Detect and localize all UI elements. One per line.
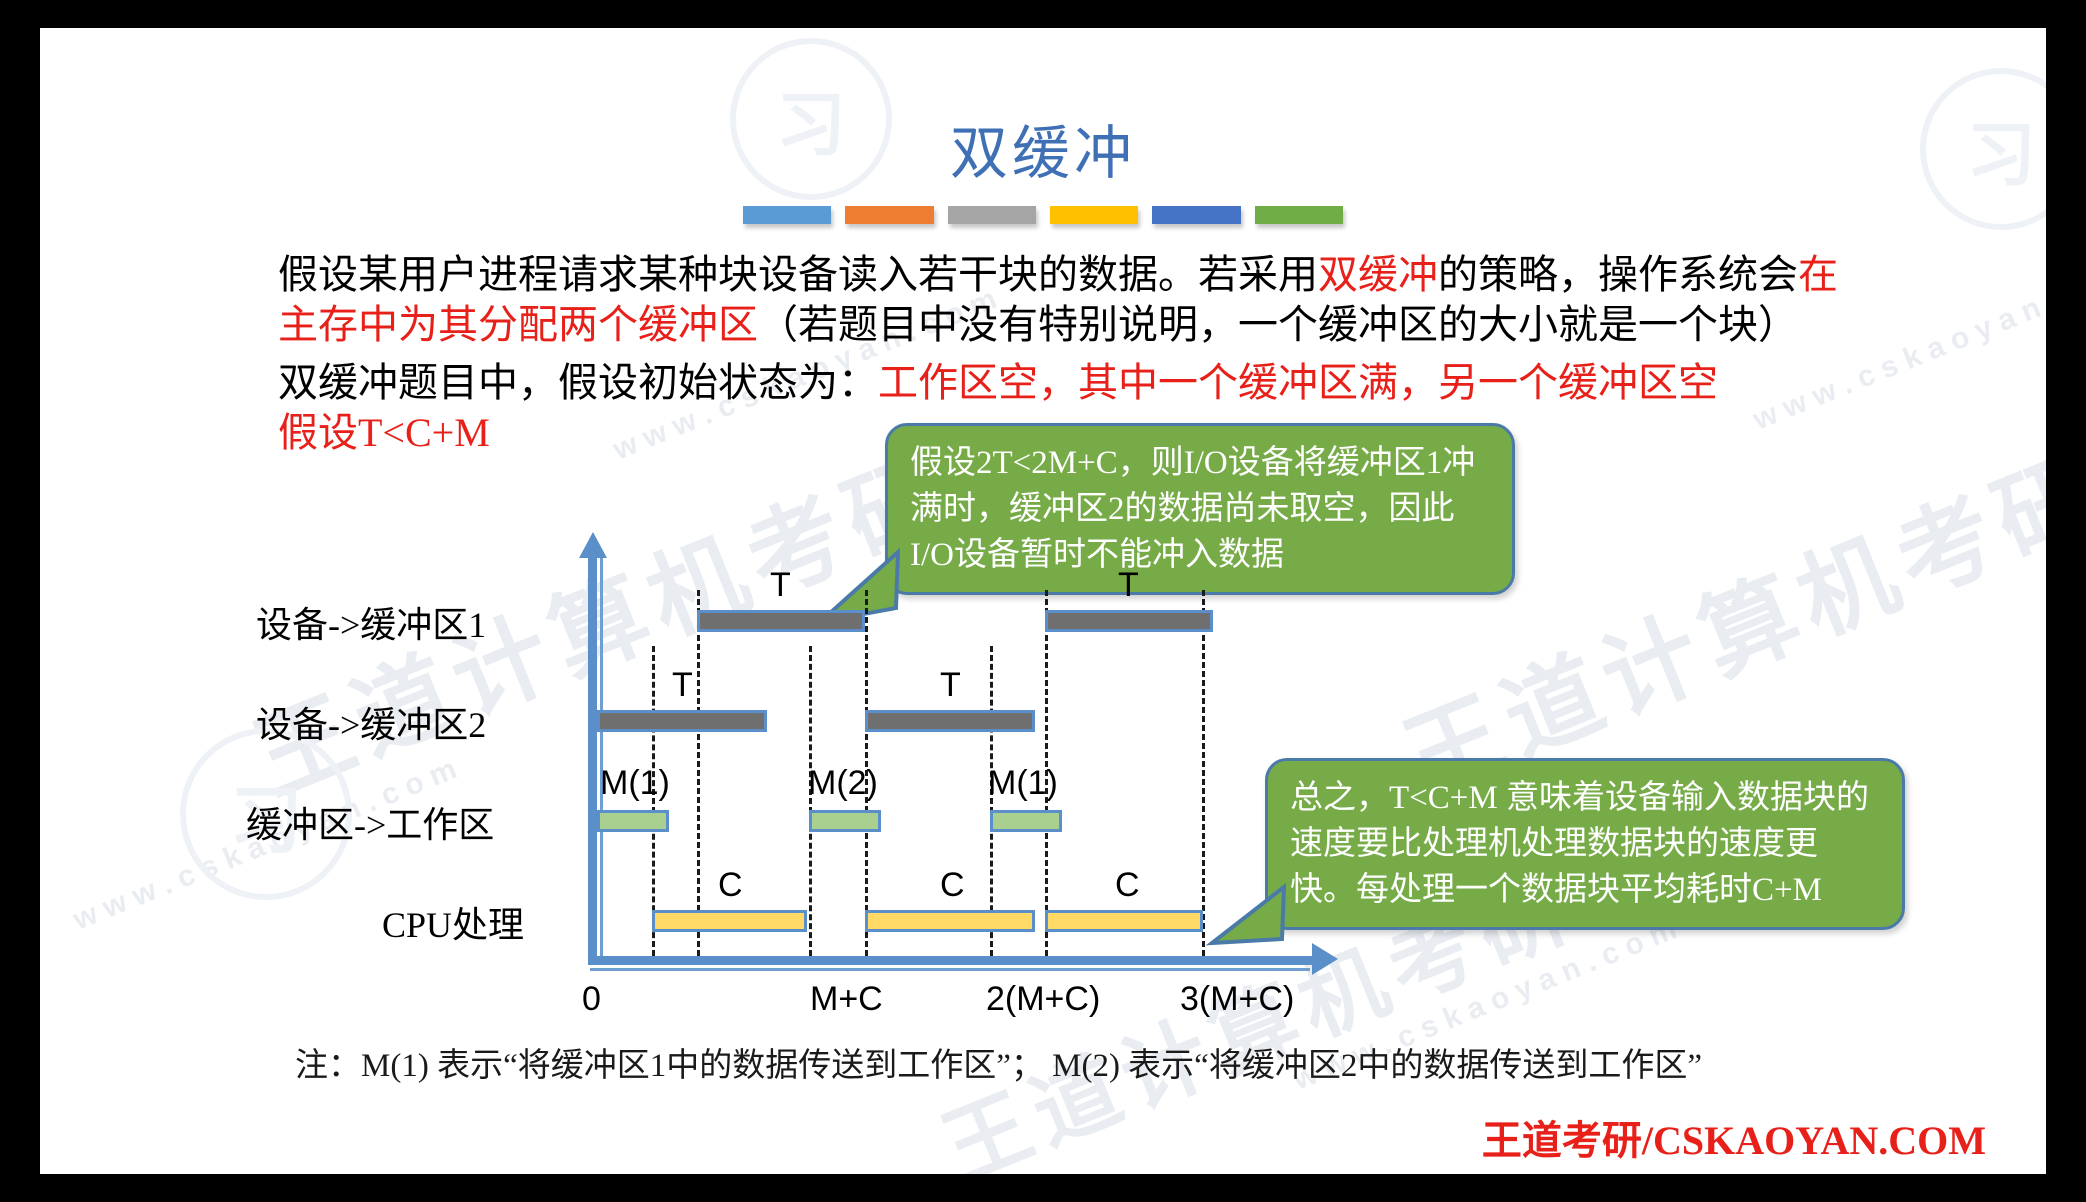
x-axis bbox=[588, 956, 1318, 965]
callout-bottom: 总之，T<C+M 意味着设备输入数据块的速度要比处理机处理数据块的速度更快。每处… bbox=[1265, 758, 1905, 930]
y-axis bbox=[588, 556, 597, 958]
accent-bar-4 bbox=[1050, 206, 1138, 224]
xtick-0: 0 bbox=[582, 980, 601, 1019]
bar-tag-T: T bbox=[940, 666, 961, 705]
p1-seg2-highlight: 双缓冲 bbox=[1318, 252, 1438, 297]
timing-chart: 设备->缓冲区1 设备->缓冲区2 缓冲区->工作区 CPU处理 T T T T… bbox=[300, 548, 1300, 1008]
page-title: 双缓冲 bbox=[40, 106, 2046, 190]
bar-buffer-work-1 bbox=[597, 810, 669, 832]
bar-cpu-3 bbox=[1045, 910, 1203, 932]
bar-tag-C: C bbox=[718, 866, 743, 905]
x-axis-arrow-icon bbox=[1312, 943, 1338, 975]
y-axis-inner bbox=[600, 558, 603, 958]
bar-buffer-work-2 bbox=[809, 810, 881, 832]
x-axis-inner bbox=[590, 968, 1310, 971]
accent-bar-3 bbox=[948, 206, 1036, 224]
bar-cpu-2 bbox=[865, 910, 1035, 932]
bar-tag-T: T bbox=[672, 666, 693, 705]
xtick-2: 2(M+C) bbox=[986, 980, 1100, 1019]
row-label-device-buffer2: 设备->缓冲区2 bbox=[256, 696, 300, 748]
bar-device-buffer1-2 bbox=[1045, 610, 1213, 632]
slide-canvas: 王道计算机考研 王道计算机考研 王道计算机考研 w w w . c s k a … bbox=[40, 28, 2046, 1174]
xtick-1: M+C bbox=[810, 980, 883, 1019]
divider-line bbox=[1202, 590, 1205, 956]
bar-tag-M2: M(2) bbox=[808, 764, 878, 803]
footnote: 注：M(1) 表示“将缓冲区1中的数据传送到工作区”； M(2) 表示“将缓冲区… bbox=[295, 1038, 1995, 1086]
bar-tag-C: C bbox=[1115, 866, 1140, 905]
p1-seg3: 的策略，操作系统会 bbox=[1438, 252, 1798, 297]
bar-tag-C: C bbox=[940, 866, 965, 905]
title-accent-bars bbox=[743, 206, 1343, 224]
divider-line bbox=[697, 590, 700, 956]
bar-device-buffer1-1 bbox=[697, 610, 865, 632]
p2-seg3-highlight: 假设T<C+M bbox=[278, 410, 490, 455]
brand-label: 王道考研/CSKAOYAN.COM bbox=[1482, 1108, 1986, 1166]
bar-tag-T: T bbox=[770, 566, 791, 605]
accent-bar-5 bbox=[1152, 206, 1240, 224]
bar-buffer-work-3 bbox=[990, 810, 1062, 832]
bar-tag-T: T bbox=[1118, 566, 1139, 605]
bar-tag-M1: M(1) bbox=[600, 764, 670, 803]
paragraph-assumption: 假设某用户进程请求某种块设备读入若干块的数据。若采用双缓冲的策略，操作系统会在主… bbox=[278, 250, 1868, 350]
bar-device-buffer2-2 bbox=[865, 710, 1035, 732]
p1-seg1: 假设某用户进程请求某种块设备读入若干块的数据。若采用 bbox=[278, 252, 1318, 297]
p2-seg1: 双缓冲题目中，假设初始状态为： bbox=[278, 360, 878, 405]
row-label-buffer-workarea: 缓冲区->工作区 bbox=[246, 796, 300, 848]
p2-seg2-highlight: 工作区空，其中一个缓冲区满，另一个缓冲区空 bbox=[878, 360, 1718, 405]
xtick-3: 3(M+C) bbox=[1180, 980, 1294, 1019]
bar-cpu-1 bbox=[652, 910, 807, 932]
p1-seg5: （若题目中没有特别说明，一个缓冲区的大小就是一个块） bbox=[758, 302, 1798, 347]
y-axis-arrow-icon bbox=[579, 532, 607, 558]
callout-bottom-text: 总之，T<C+M 意味着设备输入数据块的速度要比处理机处理数据块的速度更快。每处… bbox=[1290, 780, 1869, 908]
bar-tag-M1: M(1) bbox=[988, 764, 1058, 803]
accent-bar-1 bbox=[743, 206, 831, 224]
bar-device-buffer2-1 bbox=[597, 710, 767, 732]
accent-bar-2 bbox=[845, 206, 933, 224]
accent-bar-6 bbox=[1255, 206, 1343, 224]
row-label-device-buffer1: 设备->缓冲区1 bbox=[256, 596, 300, 648]
